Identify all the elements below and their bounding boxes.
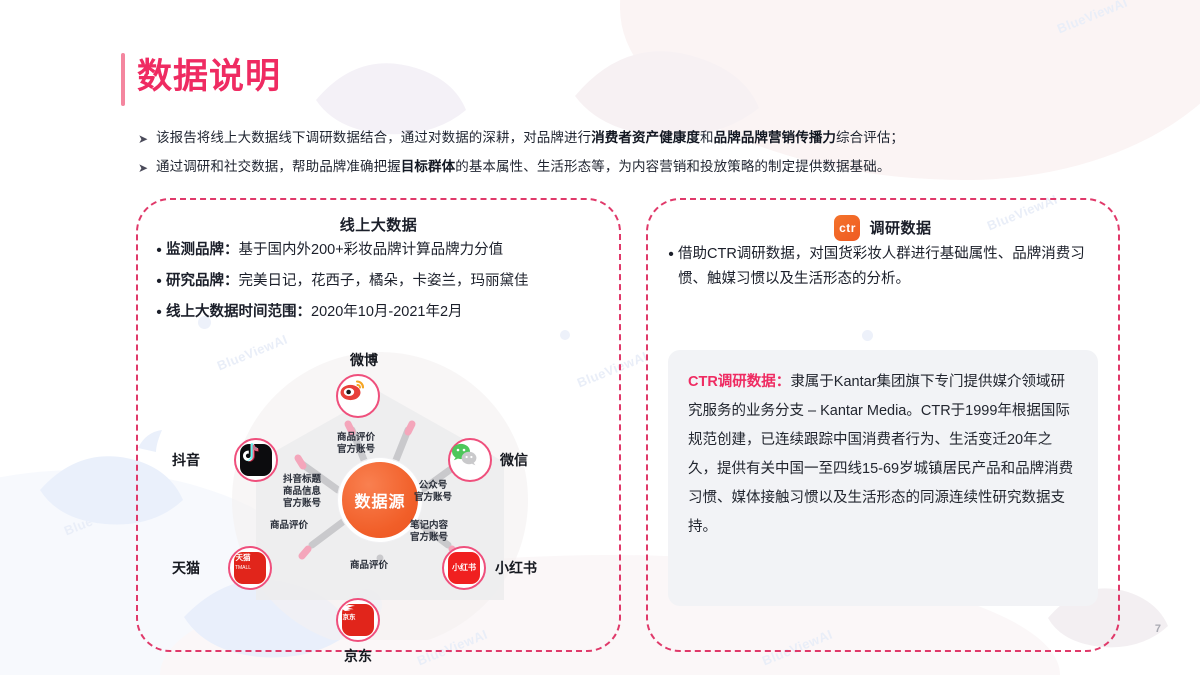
douyin-icon [240, 444, 272, 476]
intro-bullet-list: ➤ 该报告将线上大数据线下调研数据结合，通过对数据的深耕，对品牌进行消费者资产健… [138, 128, 1168, 186]
wechat-icon [454, 444, 486, 476]
intro-bullet-text: 该报告将线上大数据线下调研数据结合，通过对数据的深耕，对品牌进行消费者资产健康度… [156, 128, 904, 148]
intro-bullet-row: ➤ 通过调研和社交数据，帮助品牌准确把握目标群体的基本属性、生活形态等，为内容营… [138, 157, 1168, 177]
arrow-right-icon: ➤ [138, 158, 156, 178]
edge-label-xiaohongshu: 笔记内容官方账号 [410, 520, 448, 544]
weibo-icon [342, 380, 374, 412]
node-xiaohongshu[interactable]: 小红书 [442, 546, 486, 590]
bullet-dot-icon: • [664, 242, 678, 292]
survey-data-panel: ctr 调研数据 • 借助CTR调研数据，对国货彩妆人群进行基础属性、品牌消费习… [646, 198, 1120, 652]
node-tmall[interactable]: 天猫 TMALL [228, 546, 272, 590]
list-item: • 监测品牌：基于国内外200+彩妆品牌计算品牌力分值 [152, 240, 609, 261]
list-item: • 研究品牌：完美日记，花西子，橘朵，卡姿兰，玛丽黛佳 [152, 271, 609, 292]
edge-label-jingdong: 商品评价 [350, 560, 388, 572]
node-label-xiaohongshu: 小红书 [495, 558, 537, 578]
ctr-description-body: 隶属于Kantar集团旗下专门提供媒介领域研究服务的业务分支 – Kantar … [688, 374, 1073, 535]
ctr-logo-icon: ctr [834, 215, 860, 241]
title-accent-bar [121, 53, 125, 106]
node-douyin[interactable] [234, 438, 278, 482]
node-label-jingdong: 京东 [344, 646, 372, 666]
left-panel-bullets: • 监测品牌：基于国内外200+彩妆品牌计算品牌力分值 • 研究品牌：完美日记，… [152, 240, 609, 333]
right-panel-bullet-text: 借助CTR调研数据，对国货彩妆人群进行基础属性、品牌消费习惯、触媒习惯以及生活形… [678, 242, 1102, 292]
ctr-description-paragraph: CTR调研数据：隶属于Kantar集团旗下专门提供媒介领域研究服务的业务分支 –… [688, 368, 1078, 542]
bullet-dot-icon: • [152, 302, 166, 323]
page-number: 7 [1155, 623, 1161, 635]
svg-text:京东: 京东 [343, 612, 357, 621]
ctr-description-highlight: CTR调研数据： [688, 374, 790, 390]
edge-label-weibo: 商品评价官方账号 [337, 432, 375, 456]
right-panel-title: 调研数据 [869, 217, 931, 238]
node-label-tmall: 天猫 [172, 558, 200, 578]
right-panel-title-wrap: ctr 调研数据 [648, 214, 1118, 240]
node-wechat[interactable] [448, 438, 492, 482]
list-item-label: 研究品牌： [166, 273, 239, 289]
bullet-dot-icon: • [152, 240, 166, 261]
node-label-wechat: 微信 [500, 450, 528, 470]
node-jingdong[interactable]: 京东 [336, 598, 380, 642]
bullet-dot-icon: • [152, 271, 166, 292]
list-item-text: 线上大数据时间范围：2020年10月-2021年2月 [166, 302, 463, 323]
node-label-douyin: 抖音 [172, 450, 200, 470]
list-item: • 线上大数据时间范围：2020年10月-2021年2月 [152, 302, 609, 323]
page-title: 数据说明 [137, 55, 281, 99]
tmall-icon: 天猫 TMALL [234, 552, 266, 584]
xiaohongshu-icon: 小红书 [448, 552, 480, 584]
data-source-diagram: 数据源 微博 商品评价官方账号 [152, 350, 609, 640]
online-bigdata-panel: 线上大数据 • 监测品牌：基于国内外200+彩妆品牌计算品牌力分值 • 研究品牌… [136, 198, 621, 652]
list-item-text: 研究品牌：完美日记，花西子，橘朵，卡姿兰，玛丽黛佳 [166, 271, 529, 292]
node-weibo[interactable] [336, 374, 380, 418]
jingdong-icon: 京东 [342, 604, 374, 636]
intro-bullet-text: 通过调研和社交数据，帮助品牌准确把握目标群体的基本属性、生活形态等，为内容营销和… [156, 157, 890, 177]
edge-label-douyin: 抖音标题商品信息官方账号 [283, 474, 321, 510]
list-item-label: 监测品牌： [166, 242, 239, 258]
svg-text:天猫: 天猫 [236, 552, 251, 562]
arrow-right-icon: ➤ [138, 129, 156, 149]
list-item-text: 监测品牌：基于国内外200+彩妆品牌计算品牌力分值 [166, 240, 503, 261]
slide-root: BlueViewAI BlueViewAI BlueViewAI BlueVie… [0, 0, 1200, 675]
svg-text:TMALL: TMALL [235, 565, 251, 571]
watermark-logo: BlueViewAI [1055, 0, 1130, 36]
list-item-value: 2020年10月-2021年2月 [311, 304, 463, 320]
list-item-value: 基于国内外200+彩妆品牌计算品牌力分值 [239, 242, 504, 258]
edge-label-wechat: 公众号官方账号 [414, 480, 452, 504]
list-item-value: 完美日记，花西子，橘朵，卡姿兰，玛丽黛佳 [239, 273, 529, 289]
node-label-weibo: 微博 [350, 350, 378, 370]
edge-label-tmall: 商品评价 [270, 520, 308, 532]
left-panel-title: 线上大数据 [138, 214, 619, 235]
right-panel-bullet: • 借助CTR调研数据，对国货彩妆人群进行基础属性、品牌消费习惯、触媒习惯以及生… [664, 242, 1102, 292]
ctr-description-card: CTR调研数据：隶属于Kantar集团旗下专门提供媒介领域研究服务的业务分支 –… [668, 350, 1098, 606]
intro-bullet-row: ➤ 该报告将线上大数据线下调研数据结合，通过对数据的深耕，对品牌进行消费者资产健… [138, 128, 1168, 148]
list-item-label: 线上大数据时间范围： [166, 304, 311, 320]
